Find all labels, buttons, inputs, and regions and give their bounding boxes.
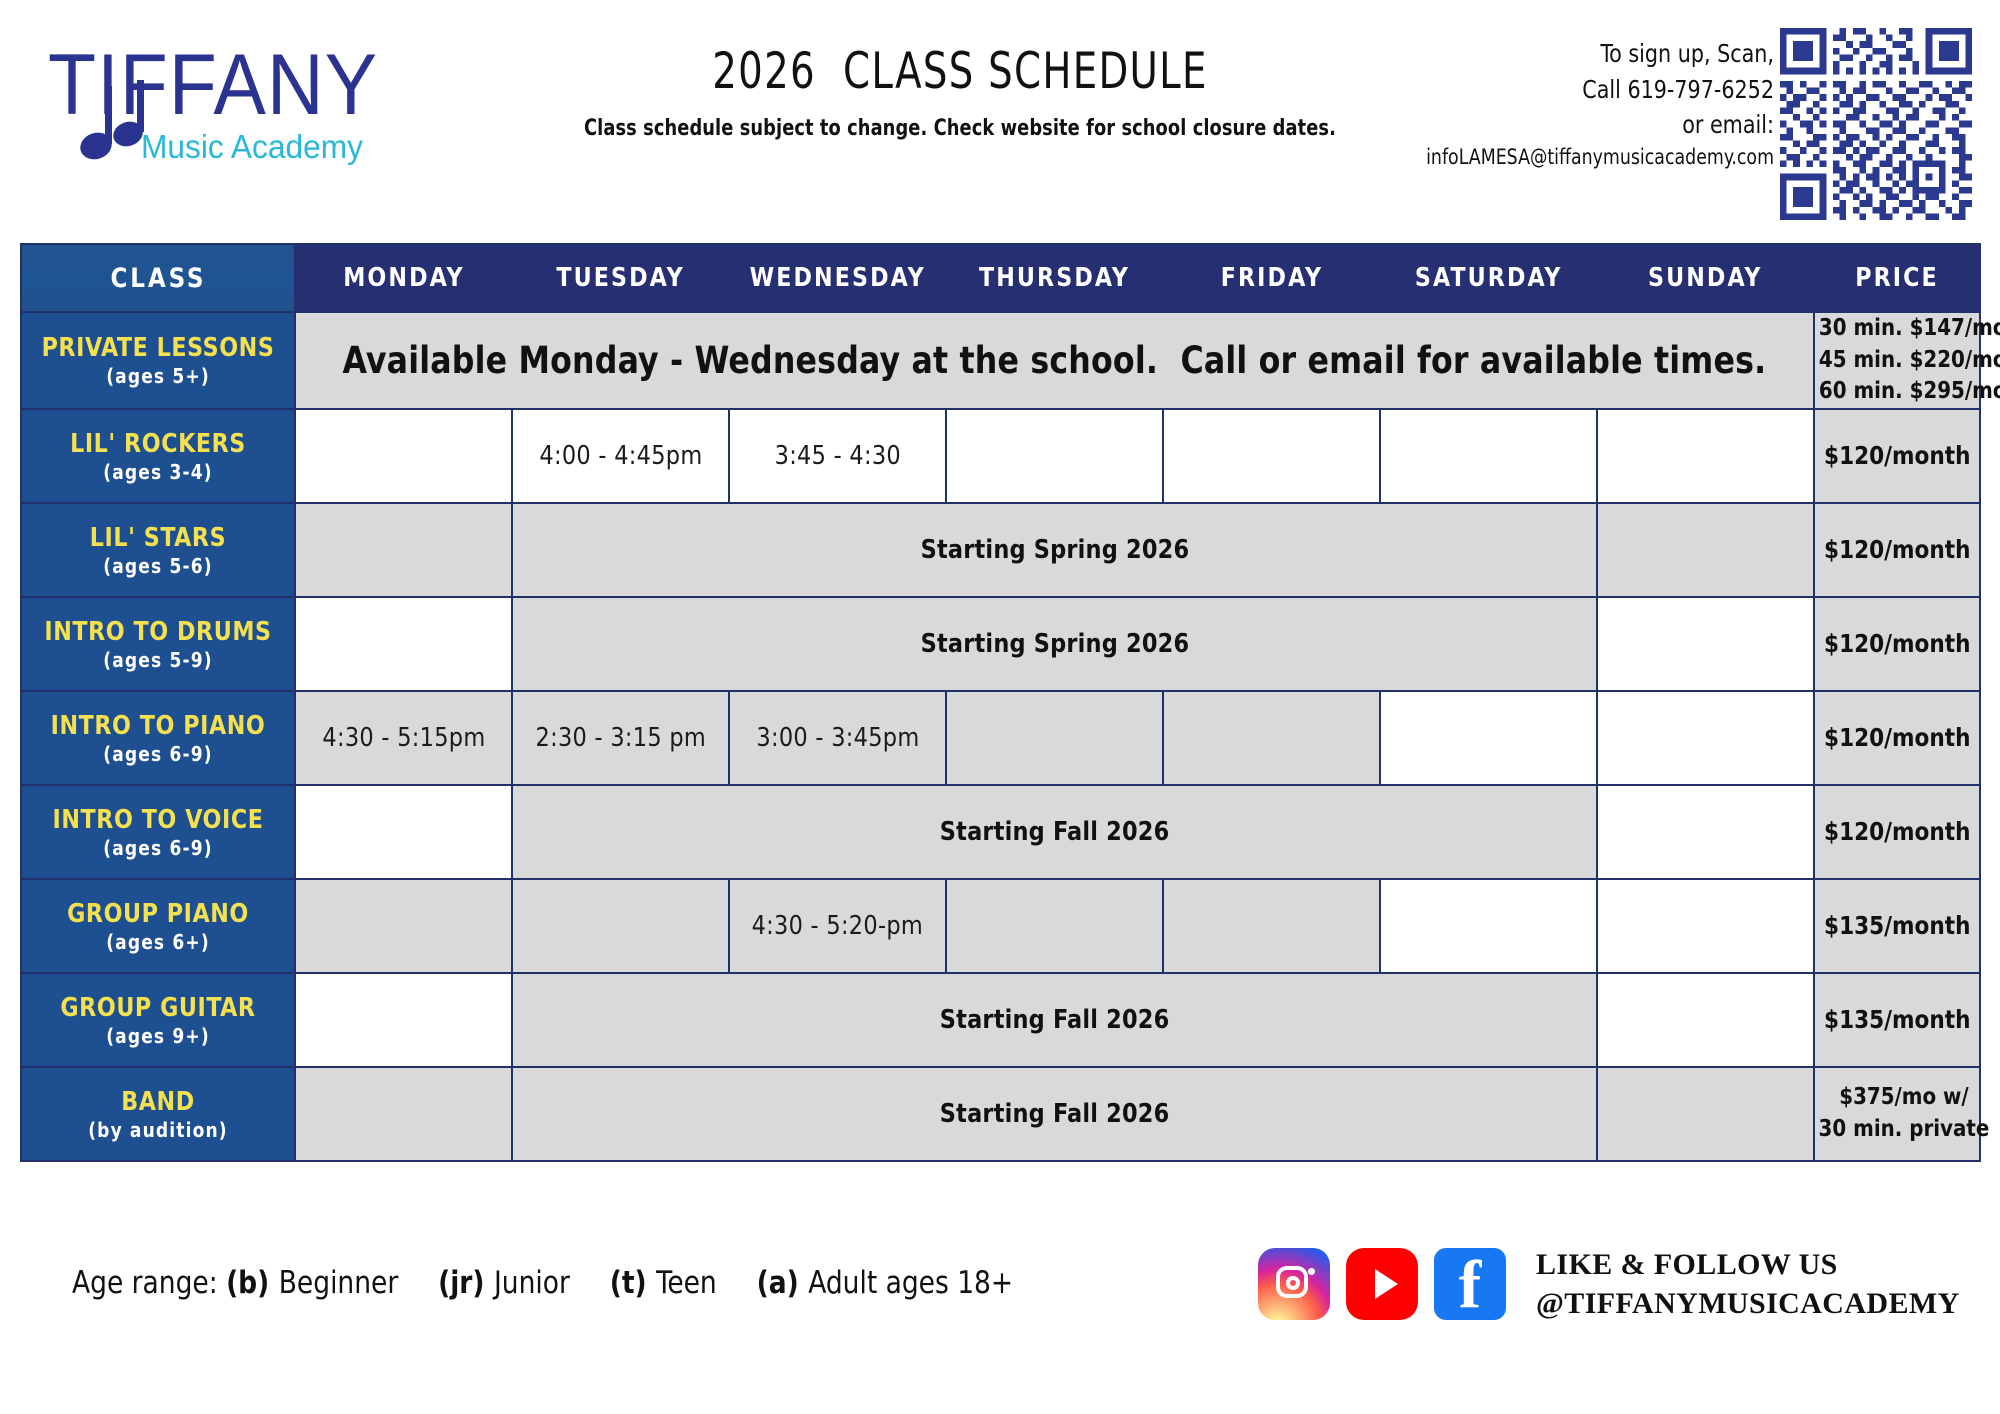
column-header-class-label: CLASS bbox=[110, 263, 206, 294]
price-cell: $375/mo w/30 min. private bbox=[1814, 1067, 1980, 1161]
legend-label: Age range: bbox=[72, 1265, 226, 1301]
svg-text:Music Academy: Music Academy bbox=[141, 128, 363, 165]
page-subtitle: Class schedule subject to change. Check … bbox=[582, 116, 1338, 141]
price-cell: $135/month bbox=[1814, 879, 1980, 973]
contact-email-label: or email: bbox=[1406, 107, 1774, 143]
class-name: BAND bbox=[29, 1088, 287, 1116]
class-name-cell: PRIVATE LESSONS(ages 5+) bbox=[21, 312, 295, 409]
starting-note-cell: Starting Fall 2026 bbox=[512, 785, 1597, 879]
youtube-icon[interactable] bbox=[1346, 1248, 1418, 1320]
class-ages: (ages 9+) bbox=[29, 1025, 287, 1047]
starting-note-cell: Starting Fall 2026 bbox=[512, 1067, 1597, 1161]
legend-tag: (a) bbox=[757, 1265, 799, 1301]
empty-slot bbox=[1380, 879, 1597, 973]
starting-note-cell: Starting Spring 2026 bbox=[512, 597, 1597, 691]
empty-slot bbox=[295, 409, 512, 503]
class-ages: (ages 6-9) bbox=[29, 743, 287, 765]
instagram-icon[interactable] bbox=[1258, 1248, 1330, 1320]
column-header-thursday-label: THURSDAY bbox=[979, 263, 1130, 293]
class-name: GROUP GUITAR bbox=[29, 994, 287, 1022]
legend-text: Adult ages 18+ bbox=[808, 1265, 1013, 1301]
legend-tag: (t) bbox=[610, 1265, 647, 1301]
table-row: PRIVATE LESSONS(ages 5+)Available Monday… bbox=[21, 312, 1980, 409]
column-header-price: PRICE bbox=[1814, 244, 1980, 312]
empty-slot bbox=[512, 879, 729, 973]
class-name-cell: INTRO TO PIANO(ages 6-9) bbox=[21, 691, 295, 785]
price-cell: $135/month bbox=[1814, 973, 1980, 1067]
contact-phone[interactable]: Call 619-797-6252 bbox=[1406, 72, 1774, 108]
class-time-slot[interactable]: 4:00 - 4:45pm bbox=[512, 409, 729, 503]
class-name: LIL' ROCKERS bbox=[29, 430, 287, 458]
legend-tag: (jr) bbox=[438, 1265, 484, 1301]
empty-slot bbox=[1597, 785, 1814, 879]
class-time-text: 4:30 - 5:15pm bbox=[322, 723, 485, 753]
price-text: $120/month bbox=[1824, 815, 1970, 850]
table-row: GROUP GUITAR(ages 9+)Starting Fall 2026$… bbox=[21, 973, 1980, 1067]
empty-slot bbox=[946, 691, 1163, 785]
class-time-slot[interactable]: 2:30 - 3:15 pm bbox=[512, 691, 729, 785]
column-header-tuesday: TUESDAY bbox=[512, 244, 729, 312]
class-ages: (ages 6-9) bbox=[29, 837, 287, 859]
price-text: 30 min. $147/mo45 min. $220/mo60 min. $2… bbox=[1819, 313, 2000, 408]
availability-banner-text: Available Monday - Wednesday at the scho… bbox=[343, 339, 1767, 382]
column-header-friday: FRIDAY bbox=[1163, 244, 1380, 312]
schedule-table: CLASS MONDAY TUESDAY WEDNESDAY THURSDAY … bbox=[20, 243, 1981, 1162]
legend-tag: (b) bbox=[226, 1265, 269, 1301]
empty-slot bbox=[1597, 879, 1814, 973]
class-name: INTRO TO DRUMS bbox=[29, 618, 287, 646]
class-time-text: 4:30 - 5:20-pm bbox=[752, 911, 923, 941]
legend-text: Teen bbox=[656, 1265, 717, 1301]
starting-note-cell: Starting Spring 2026 bbox=[512, 503, 1597, 597]
starting-note-text: Starting Spring 2026 bbox=[920, 535, 1189, 565]
class-time-text: 3:00 - 3:45pm bbox=[756, 723, 919, 753]
column-header-price-label: PRICE bbox=[1855, 263, 1939, 293]
empty-slot bbox=[295, 785, 512, 879]
price-cell: $120/month bbox=[1814, 597, 1980, 691]
empty-slot bbox=[1163, 409, 1380, 503]
table-row: INTRO TO DRUMS(ages 5-9)Starting Spring … bbox=[21, 597, 1980, 691]
class-ages: (ages 5+) bbox=[29, 365, 287, 387]
column-header-sunday-label: SUNDAY bbox=[1648, 263, 1763, 293]
price-text: $120/month bbox=[1824, 721, 1970, 756]
price-text: $120/month bbox=[1824, 533, 1970, 568]
brand-logo: TIFFANY Music Academy bbox=[48, 36, 398, 171]
price-cell: $120/month bbox=[1814, 785, 1980, 879]
empty-slot bbox=[1597, 973, 1814, 1067]
class-name-cell: INTRO TO DRUMS(ages 5-9) bbox=[21, 597, 295, 691]
legend-text: Beginner bbox=[279, 1265, 398, 1301]
header-row: CLASS MONDAY TUESDAY WEDNESDAY THURSDAY … bbox=[21, 244, 1980, 312]
empty-slot bbox=[1380, 691, 1597, 785]
page-header: TIFFANY Music Academy 2026 CLASS SCHEDUL… bbox=[0, 0, 2000, 218]
follow-text: LIKE & FOLLOW US @TIFFANYMUSICACADEMY bbox=[1536, 1245, 1960, 1323]
table-row: GROUP PIANO(ages 6+)4:30 - 5:20-pm$135/m… bbox=[21, 879, 1980, 973]
title-block: 2026 CLASS SCHEDULE Class schedule subje… bbox=[540, 45, 1380, 141]
follow-line-1: LIKE & FOLLOW US bbox=[1536, 1248, 1838, 1281]
column-header-wednesday-label: WEDNESDAY bbox=[749, 263, 925, 293]
empty-slot bbox=[1597, 1067, 1814, 1161]
empty-slot bbox=[295, 597, 512, 691]
starting-note-text: Starting Fall 2026 bbox=[940, 1099, 1170, 1129]
availability-banner: Available Monday - Wednesday at the scho… bbox=[295, 312, 1814, 409]
column-header-saturday: SATURDAY bbox=[1380, 244, 1597, 312]
schedule-page: TIFFANY Music Academy 2026 CLASS SCHEDUL… bbox=[0, 0, 2000, 1414]
starting-note-text: Starting Fall 2026 bbox=[940, 1005, 1170, 1035]
facebook-icon[interactable]: f bbox=[1434, 1248, 1506, 1320]
class-time-slot[interactable]: 4:30 - 5:20-pm bbox=[729, 879, 946, 973]
column-header-monday: MONDAY bbox=[295, 244, 512, 312]
empty-slot bbox=[1163, 879, 1380, 973]
class-ages: (ages 5-6) bbox=[29, 555, 287, 577]
price-text: $375/mo w/30 min. private bbox=[1819, 1082, 1990, 1145]
empty-slot bbox=[1597, 691, 1814, 785]
contact-email[interactable]: infoLAMESA@tiffanymusicacademy.com bbox=[1406, 143, 1774, 173]
starting-note-text: Starting Fall 2026 bbox=[940, 817, 1170, 847]
price-cell: $120/month bbox=[1814, 691, 1980, 785]
class-name-cell: BAND(by audition) bbox=[21, 1067, 295, 1161]
price-text: $135/month bbox=[1824, 1003, 1970, 1038]
qr-code-icon[interactable] bbox=[1780, 28, 1972, 220]
price-cell: 30 min. $147/mo45 min. $220/mo60 min. $2… bbox=[1814, 312, 1980, 409]
empty-slot bbox=[295, 879, 512, 973]
schedule-table-wrap: CLASS MONDAY TUESDAY WEDNESDAY THURSDAY … bbox=[20, 243, 1980, 1162]
class-ages: (ages 6+) bbox=[29, 931, 287, 953]
empty-slot bbox=[1380, 409, 1597, 503]
class-time-slot[interactable]: 4:30 - 5:15pm bbox=[295, 691, 512, 785]
starting-note-cell: Starting Fall 2026 bbox=[512, 973, 1597, 1067]
class-time-slot[interactable]: 3:00 - 3:45pm bbox=[729, 691, 946, 785]
class-name: PRIVATE LESSONS bbox=[29, 334, 287, 362]
table-row: INTRO TO PIANO(ages 6-9)4:30 - 5:15pm2:3… bbox=[21, 691, 1980, 785]
class-time-slot[interactable]: 3:45 - 4:30 bbox=[729, 409, 946, 503]
table-row: LIL' STARS(ages 5-6)Starting Spring 2026… bbox=[21, 503, 1980, 597]
column-header-friday-label: FRIDAY bbox=[1220, 263, 1322, 293]
table-row: INTRO TO VOICE(ages 6-9)Starting Fall 20… bbox=[21, 785, 1980, 879]
class-ages: (by audition) bbox=[29, 1119, 287, 1141]
empty-slot bbox=[946, 409, 1163, 503]
empty-slot bbox=[1597, 597, 1814, 691]
price-cell: $120/month bbox=[1814, 409, 1980, 503]
legend-text: Junior bbox=[494, 1265, 570, 1301]
table-row: BAND(by audition)Starting Fall 2026$375/… bbox=[21, 1067, 1980, 1161]
column-header-class: CLASS bbox=[21, 244, 295, 312]
empty-slot bbox=[946, 879, 1163, 973]
empty-slot bbox=[295, 503, 512, 597]
empty-slot bbox=[1163, 691, 1380, 785]
class-name: INTRO TO VOICE bbox=[29, 806, 287, 834]
table-row: LIL' ROCKERS(ages 3-4)4:00 - 4:45pm3:45 … bbox=[21, 409, 1980, 503]
empty-slot bbox=[295, 1067, 512, 1161]
social-links: f LIKE & FOLLOW US @TIFFANYMUSICACADEMY bbox=[1258, 1245, 1960, 1323]
class-name: LIL' STARS bbox=[29, 524, 287, 552]
column-header-sunday: SUNDAY bbox=[1597, 244, 1814, 312]
table-header: CLASS MONDAY TUESDAY WEDNESDAY THURSDAY … bbox=[21, 244, 1980, 312]
price-text: $135/month bbox=[1824, 909, 1970, 944]
class-name: INTRO TO PIANO bbox=[29, 712, 287, 740]
column-header-saturday-label: SATURDAY bbox=[1415, 263, 1563, 293]
class-ages: (ages 5-9) bbox=[29, 649, 287, 671]
starting-note-text: Starting Spring 2026 bbox=[920, 629, 1189, 659]
column-header-monday-label: MONDAY bbox=[343, 263, 465, 293]
column-header-tuesday-label: TUESDAY bbox=[556, 263, 684, 293]
price-text: $120/month bbox=[1824, 439, 1970, 474]
empty-slot bbox=[295, 973, 512, 1067]
empty-slot bbox=[1597, 409, 1814, 503]
contact-signup-line: To sign up, Scan, bbox=[1406, 36, 1774, 72]
follow-line-2: @TIFFANYMUSICACADEMY bbox=[1536, 1287, 1960, 1320]
class-time-text: 2:30 - 3:15 pm bbox=[535, 723, 706, 753]
table-body: PRIVATE LESSONS(ages 5+)Available Monday… bbox=[21, 312, 1980, 1161]
class-name-cell: LIL' STARS(ages 5-6) bbox=[21, 503, 295, 597]
class-name-cell: GROUP GUITAR(ages 9+) bbox=[21, 973, 295, 1067]
class-name-cell: GROUP PIANO(ages 6+) bbox=[21, 879, 295, 973]
class-time-text: 3:45 - 4:30 bbox=[774, 441, 900, 471]
page-footer: Age range: (b)Beginner(jr)Junior(t)Teen(… bbox=[0, 1245, 2000, 1375]
page-title: 2026 CLASS SCHEDULE bbox=[599, 45, 1321, 98]
column-header-wednesday: WEDNESDAY bbox=[729, 244, 946, 312]
price-text: $120/month bbox=[1824, 627, 1970, 662]
class-time-text: 4:00 - 4:45pm bbox=[539, 441, 702, 471]
price-cell: $120/month bbox=[1814, 503, 1980, 597]
column-header-thursday: THURSDAY bbox=[946, 244, 1163, 312]
class-name-cell: LIL' ROCKERS(ages 3-4) bbox=[21, 409, 295, 503]
empty-slot bbox=[1597, 503, 1814, 597]
age-range-legend: Age range: (b)Beginner(jr)Junior(t)Teen(… bbox=[72, 1265, 1013, 1301]
class-name-cell: INTRO TO VOICE(ages 6-9) bbox=[21, 785, 295, 879]
class-ages: (ages 3-4) bbox=[29, 461, 287, 483]
svg-text:TIFFANY: TIFFANY bbox=[48, 37, 378, 133]
contact-info: To sign up, Scan, Call 619-797-6252 or e… bbox=[1406, 36, 1774, 172]
class-name: GROUP PIANO bbox=[29, 900, 287, 928]
